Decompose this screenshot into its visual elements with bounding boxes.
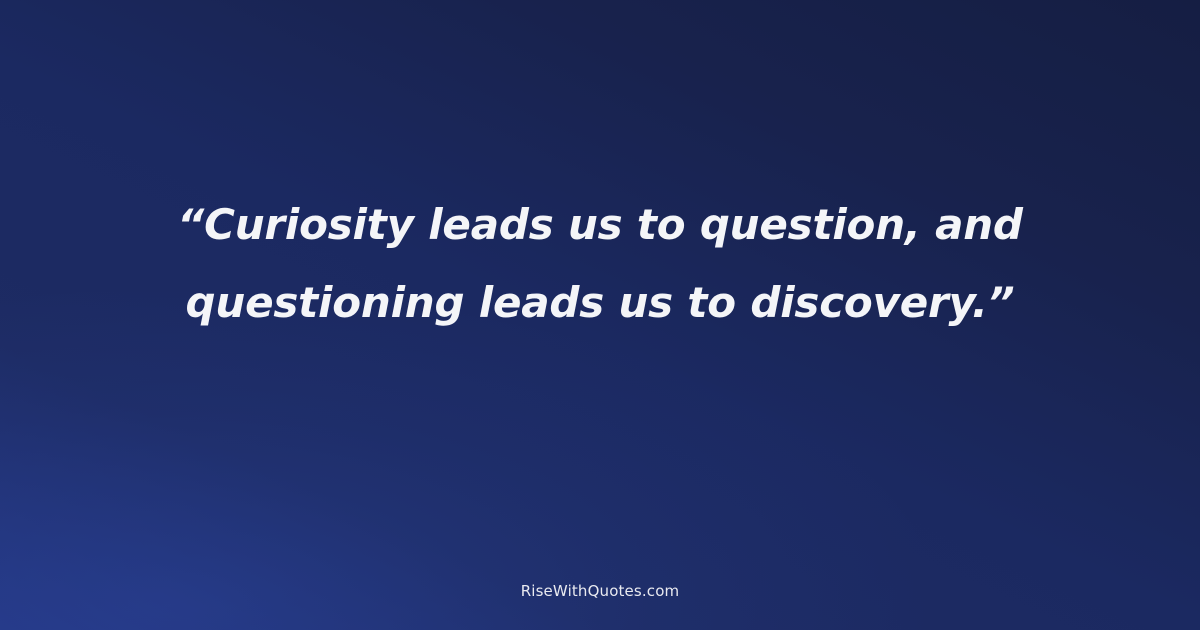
quote-card: “Curiosity leads us to question, and que… — [0, 0, 1200, 630]
quote-block: “Curiosity leads us to question, and que… — [60, 186, 1140, 342]
quote-text: “Curiosity leads us to question, and que… — [90, 186, 1110, 342]
footer: RiseWithQuotes.com — [0, 581, 1200, 601]
site-attribution-label: RiseWithQuotes.com — [0, 581, 1200, 601]
